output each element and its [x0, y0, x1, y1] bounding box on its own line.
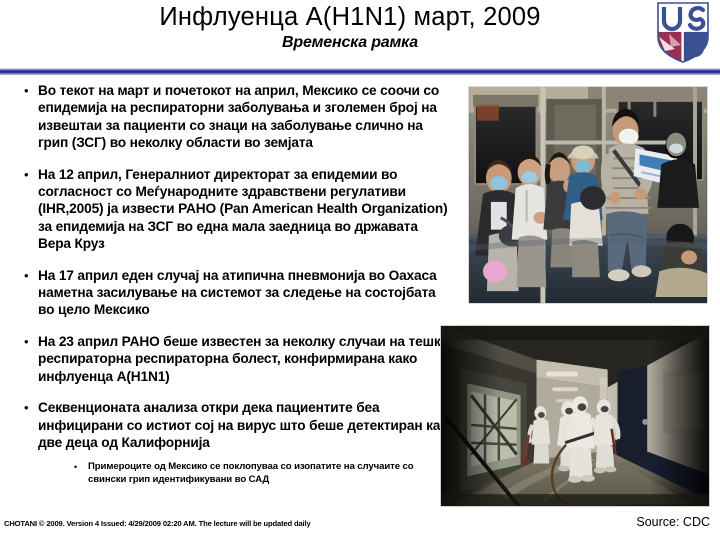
sub-list-item: • Примероците од Мексико се поклопуваа с…	[74, 461, 454, 486]
copyright-footer: CHOTANI © 2009. Version 4 Issued: 4/29/2…	[4, 519, 311, 528]
page-subtitle: Временска рамка	[60, 33, 640, 53]
list-item: • На 17 април еден случај на атипична пн…	[22, 267, 454, 319]
bullet-marker-icon: •	[22, 399, 38, 417]
bullet-text: На 12 април, Генералниот директорат за е…	[38, 166, 454, 253]
list-item: • Секвенционата анализа откри дека пацие…	[22, 399, 454, 451]
sub-bullet-marker-icon: •	[74, 461, 88, 475]
bullet-list: • Во текот на март и почетокот на април,…	[22, 82, 454, 487]
sub-bullet-text: Примероците од Мексико се поклопуваа со …	[88, 461, 454, 486]
bullet-marker-icon: •	[22, 82, 38, 100]
bullet-marker-icon: •	[22, 267, 38, 285]
usuhs-shield-logo	[655, 1, 711, 63]
bullet-marker-icon: •	[22, 333, 38, 351]
bullet-text: Секвенционата анализа откри дека пациент…	[38, 399, 454, 451]
list-item: • На 12 април, Генералниот директорат за…	[22, 166, 454, 253]
bullet-text: На 23 април PAHO беше известен за неколк…	[38, 333, 454, 385]
slide-header: Инфлуенца A(H1N1) март, 2009 Временска р…	[0, 0, 720, 68]
bullet-text: На 17 април еден случај на атипична пнев…	[38, 267, 454, 319]
school-corridor-disinfection-photo	[440, 325, 710, 507]
page-title: Инфлуенца A(H1N1) март, 2009	[60, 2, 640, 32]
list-item: • На 23 април PAHO беше известен за неко…	[22, 333, 454, 385]
list-item: • Во текот на март и почетокот на април,…	[22, 82, 454, 152]
subway-passengers-masks-photo	[468, 86, 708, 304]
slide-canvas: Инфлуенца A(H1N1) март, 2009 Временска р…	[0, 0, 720, 540]
source-label: Source: CDC	[636, 515, 710, 529]
bullet-marker-icon: •	[22, 166, 38, 184]
title-block: Инфлуенца A(H1N1) март, 2009 Временска р…	[60, 2, 640, 53]
bullet-text: Во текот на март и почетокот на април, М…	[38, 82, 454, 152]
header-divider	[0, 68, 720, 75]
